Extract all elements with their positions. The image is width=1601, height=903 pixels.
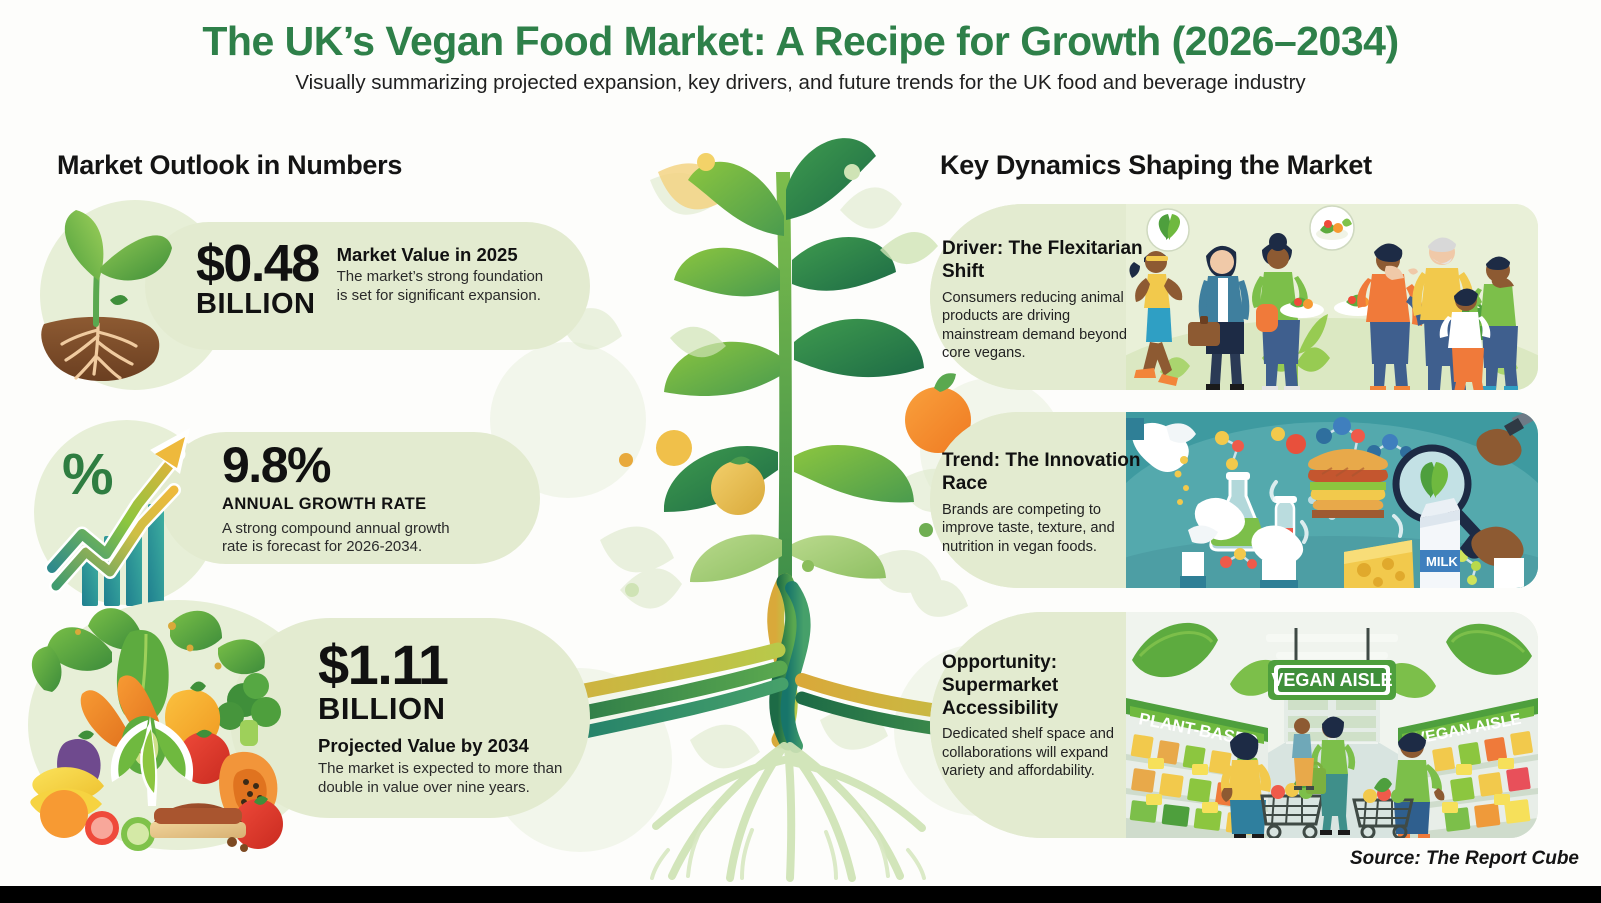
growth-arrow-chart-icon: %	[38, 408, 243, 608]
salad-speech-bubble	[1310, 206, 1354, 250]
food-science-lab-illustration: MILK	[1126, 412, 1538, 588]
stat-unit-1: BILLION	[196, 289, 319, 319]
dynamic-body-3: Dedicated shelf space and collaborations…	[942, 725, 1142, 781]
page-title: The UK’s Vegan Food Market: A Recipe for…	[0, 18, 1601, 65]
dynamic-title-3: Opportunity: Supermarket Accessibility	[942, 652, 1142, 720]
stat-caption-3: The market is expected to more than doub…	[318, 760, 570, 798]
vegan-aisle-sign-label: VEGAN AISLE	[1271, 670, 1392, 690]
stat-title-3: Projected Value by 2034	[318, 735, 570, 756]
stat-title-1: Market Value in 2025	[337, 244, 552, 265]
diverse-consumers-illustration	[1126, 204, 1538, 390]
bottom-bar	[0, 886, 1601, 903]
svg-text:%: %	[62, 442, 114, 507]
dynamic-body-1: Consumers reducing animal products are d…	[942, 289, 1147, 363]
left-column-heading: Market Outlook in Numbers	[57, 150, 402, 181]
plant-based-burger	[1308, 449, 1388, 518]
milk-label: MILK	[1426, 554, 1458, 569]
dynamic-title-2: Trend: The Innovation Race	[942, 450, 1147, 496]
dynamic-content-3: Opportunity: Supermarket Accessibility D…	[942, 652, 1142, 781]
stat-content-2: 9.8% ANNUAL GROWTH RATE A strong compoun…	[222, 442, 472, 557]
supermarket-aisle-illustration: PLANT-BASED	[1126, 612, 1538, 838]
stat-caption-2: A strong compound annual growth rate is …	[222, 520, 472, 558]
dynamic-content-2: Trend: The Innovation Race Brands are co…	[942, 450, 1147, 556]
stat-value-3: $1.11	[318, 638, 570, 691]
fibrous-roots	[656, 746, 922, 878]
stat-kicker-2: ANNUAL GROWTH RATE	[222, 495, 427, 514]
vegetable-basket-icon	[22, 596, 312, 858]
stat-content-1: $0.48 BILLION Market Value in 2025 The m…	[196, 240, 552, 320]
infographic-canvas: The UK’s Vegan Food Market: A Recipe for…	[0, 0, 1601, 903]
dynamic-body-2: Brands are competing to improve taste, t…	[942, 501, 1147, 557]
source-attribution: Source: The Report Cube	[1350, 848, 1579, 870]
stat-value-1: $0.48	[196, 240, 319, 289]
stat-content-3: $1.11 BILLION Projected Value by 2034 Th…	[318, 638, 570, 798]
header: The UK’s Vegan Food Market: A Recipe for…	[0, 18, 1601, 95]
page-subtitle: Visually summarizing projected expansion…	[0, 71, 1601, 95]
stat-caption-1: The market’s strong foundation is set fo…	[337, 268, 552, 306]
stat-value-2: 9.8%	[222, 442, 330, 490]
dynamic-title-1: Driver: The Flexitarian Shift	[942, 238, 1147, 284]
stat-unit-3: BILLION	[318, 693, 570, 726]
leaf-speech-bubble	[1147, 209, 1189, 251]
dynamic-content-1: Driver: The Flexitarian Shift Consumers …	[942, 238, 1147, 363]
milk-carton: MILK	[1420, 498, 1460, 588]
